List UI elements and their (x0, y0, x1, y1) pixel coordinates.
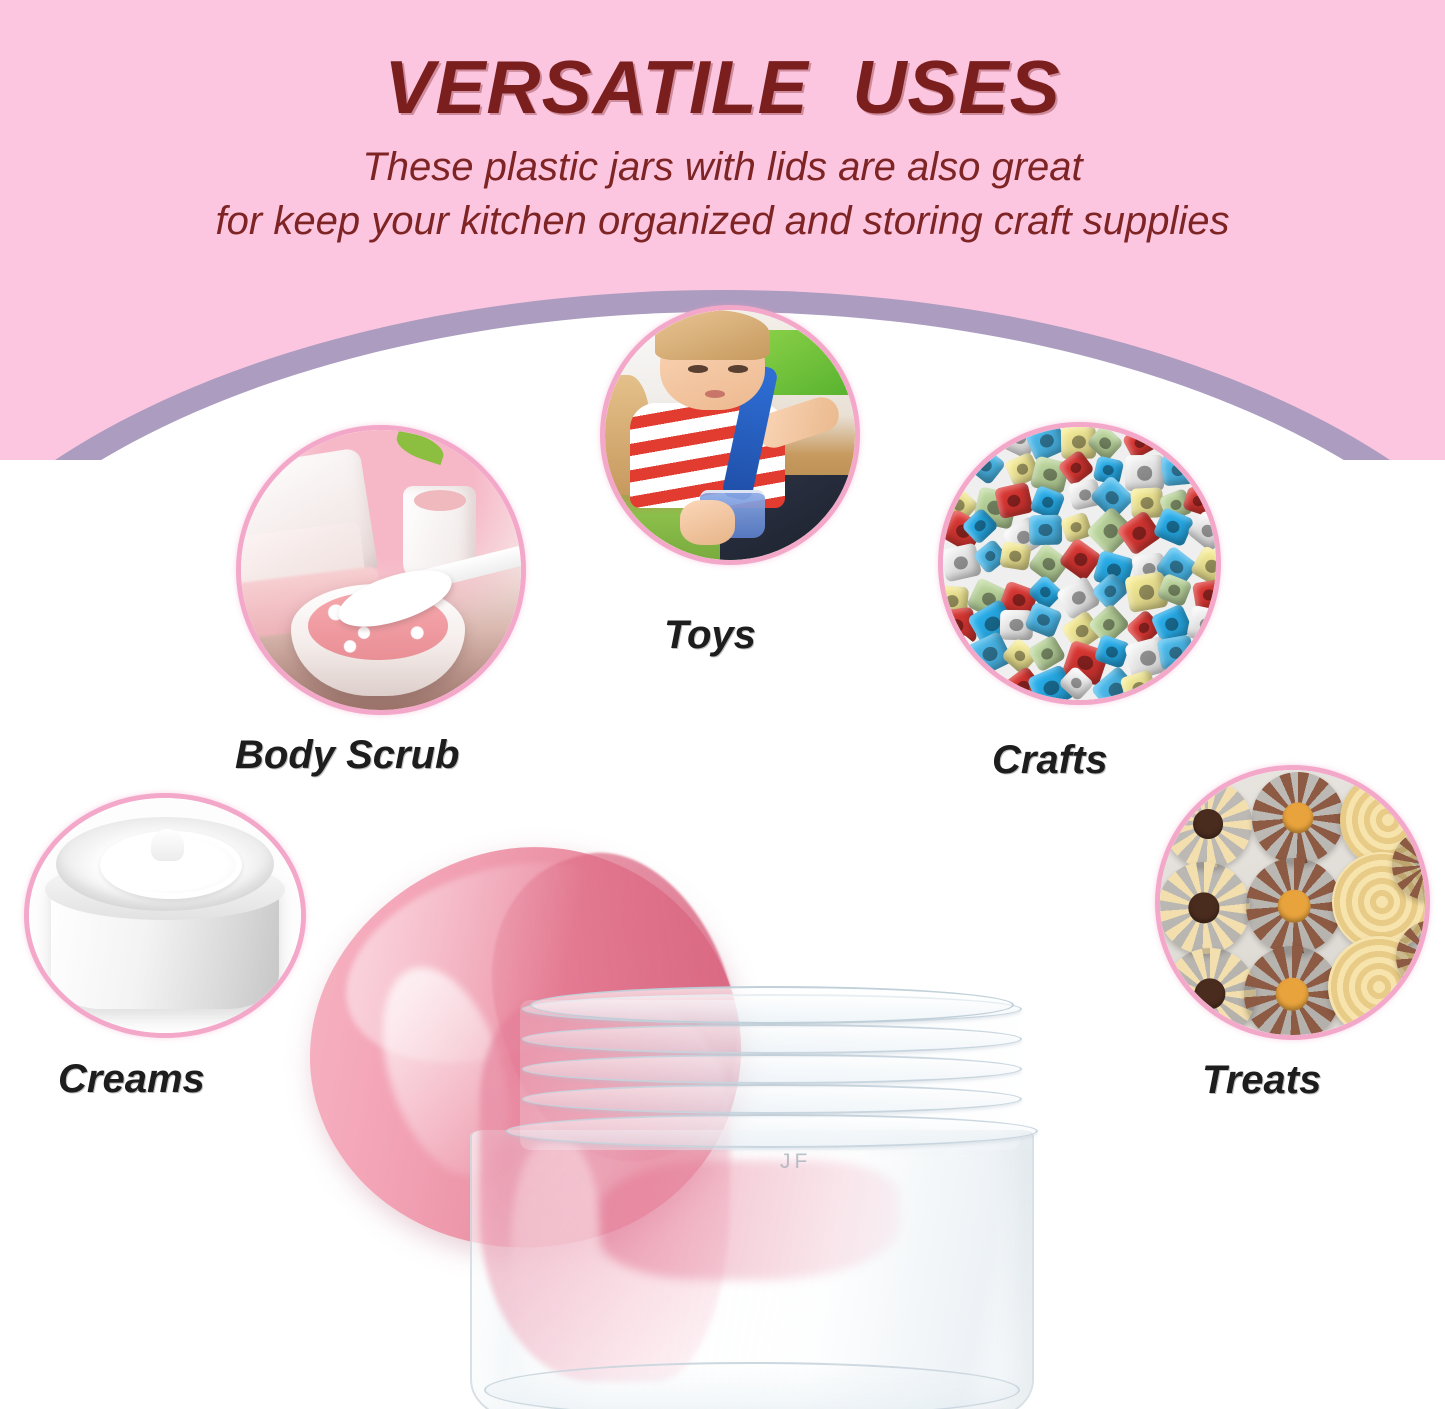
chocolate-flower-cookie (1252, 772, 1344, 864)
crafts-photo (943, 427, 1216, 700)
bead-field (943, 427, 1216, 700)
chocolate-flower-cookie (1244, 946, 1340, 1035)
craft-bead (1125, 455, 1165, 491)
jar-thread-5 (506, 1114, 1038, 1148)
use-case-thumb-toys (600, 305, 860, 565)
jar-thread-3 (522, 1054, 1022, 1084)
body-scrub-photo (241, 430, 521, 710)
craft-bead (1191, 427, 1216, 455)
jar-thread-4 (522, 1084, 1022, 1114)
jam-center (1276, 978, 1309, 1011)
jam-center (1278, 890, 1311, 923)
use-case-thumb-body-scrub (236, 425, 526, 715)
chocolate-flower-cookie (1246, 858, 1342, 954)
craft-bead (1028, 515, 1061, 546)
subtitle-line-1: These plastic jars with lids are also gr… (0, 140, 1445, 194)
craft-bead (1156, 635, 1195, 671)
page-title: VERSATILE USES (0, 44, 1445, 130)
jar-embossed-mark: JF (780, 1150, 811, 1174)
clear-jar: JF (450, 980, 1050, 1409)
caption-toys: Toys (664, 613, 756, 658)
caption-crafts: Crafts (992, 738, 1108, 783)
craft-bead (994, 482, 1034, 520)
craft-bead (943, 543, 982, 583)
jar-pink-refraction-lower (600, 1160, 900, 1280)
jar-mouth-opening (530, 986, 1014, 1024)
caption-body-scrub: Body Scrub (235, 733, 459, 778)
jar-thread-2 (522, 1024, 1022, 1054)
use-case-thumb-crafts (938, 422, 1221, 705)
craft-bead (1186, 509, 1216, 552)
caption-treats: Treats (1202, 1058, 1321, 1103)
versatile-uses-infographic: VERSATILE USES These plastic jars with l… (0, 0, 1445, 1409)
craft-bead (999, 541, 1031, 571)
craft-bead (965, 444, 1007, 485)
toys-photo (605, 310, 855, 560)
jar-base (484, 1362, 1020, 1409)
page-subtitle: These plastic jars with lids are also gr… (0, 140, 1445, 248)
product-jar-hero: JF (250, 830, 1200, 1409)
caption-creams: Creams (58, 1057, 205, 1102)
subtitle-line-2: for keep your kitchen organized and stor… (0, 194, 1445, 248)
